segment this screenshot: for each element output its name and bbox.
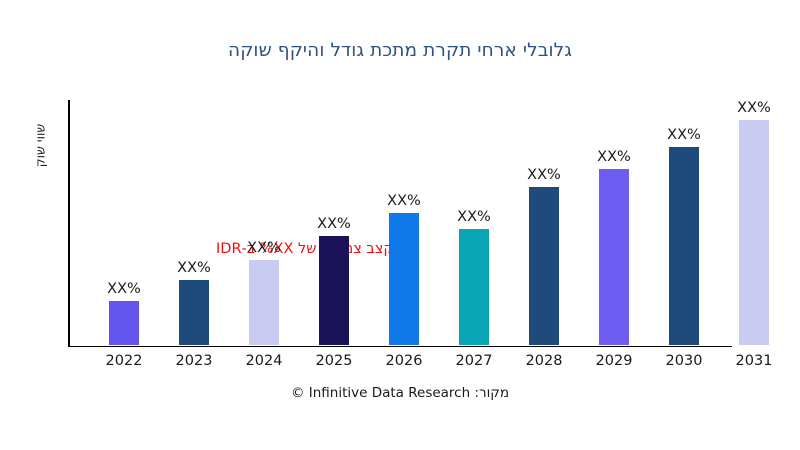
bar-chart: גלובלי ארחי תקרת מתכת גודל והיקף שוקה שו… — [0, 0, 800, 450]
bar-2030[interactable] — [669, 147, 699, 346]
bar-value-label-2024: XX% — [231, 240, 297, 256]
x-tick-label-2029: 2029 — [581, 353, 647, 369]
bar-2023[interactable] — [179, 280, 209, 346]
bar-group-2031[interactable]: XX%2031 — [739, 100, 769, 346]
y-axis-label: שווי שוק — [33, 86, 48, 206]
bar-group-2023[interactable]: XX%2023 — [179, 100, 209, 346]
x-tick-label-2025: 2025 — [301, 353, 367, 369]
x-tick-label-2022: 2022 — [91, 353, 157, 369]
x-tick-label-2024: 2024 — [231, 353, 297, 369]
x-tick-label-2026: 2026 — [371, 353, 437, 369]
bar-group-2030[interactable]: XX%2030 — [669, 100, 699, 346]
x-tick-label-2031: 2031 — [721, 353, 787, 369]
x-tick-label-2023: 2023 — [161, 353, 227, 369]
bar-2025[interactable] — [319, 236, 349, 345]
bar-group-2028[interactable]: XX%2028 — [529, 100, 559, 346]
plot-area: קצב צמיחה של XX% ב-IDR XX%2022XX%2023XX%… — [68, 100, 772, 347]
chart-title: גלובלי ארחי תקרת מתכת גודל והיקף שוקה — [0, 40, 800, 61]
bar-2026[interactable] — [389, 213, 419, 345]
bar-value-label-2030: XX% — [651, 127, 717, 143]
x-axis-line — [68, 346, 732, 348]
bar-value-label-2023: XX% — [161, 260, 227, 276]
bar-group-2026[interactable]: XX%2026 — [389, 100, 419, 346]
bar-value-label-2028: XX% — [511, 167, 577, 183]
x-tick-label-2028: 2028 — [511, 353, 577, 369]
bar-group-2022[interactable]: XX%2022 — [109, 100, 139, 346]
y-axis-line — [68, 100, 70, 347]
bar-2029[interactable] — [599, 169, 629, 345]
bar-value-label-2031: XX% — [721, 100, 787, 116]
bar-value-label-2027: XX% — [441, 209, 507, 225]
bar-value-label-2022: XX% — [91, 281, 157, 297]
x-tick-label-2027: 2027 — [441, 353, 507, 369]
bar-group-2025[interactable]: XX%2025 — [319, 100, 349, 346]
bar-2031[interactable] — [739, 120, 769, 346]
bar-2024[interactable] — [249, 260, 279, 345]
bar-value-label-2026: XX% — [371, 193, 437, 209]
bar-group-2024[interactable]: XX%2024 — [249, 100, 279, 346]
x-tick-label-2030: 2030 — [651, 353, 717, 369]
bar-value-label-2025: XX% — [301, 216, 367, 232]
bar-2028[interactable] — [529, 187, 559, 345]
bar-2022[interactable] — [109, 301, 139, 345]
source-note: מקור: Infinitive Data Research © — [0, 385, 800, 401]
bar-group-2029[interactable]: XX%2029 — [599, 100, 629, 346]
bar-2027[interactable] — [459, 229, 489, 345]
bar-value-label-2029: XX% — [581, 149, 647, 165]
bar-group-2027[interactable]: XX%2027 — [459, 100, 489, 346]
